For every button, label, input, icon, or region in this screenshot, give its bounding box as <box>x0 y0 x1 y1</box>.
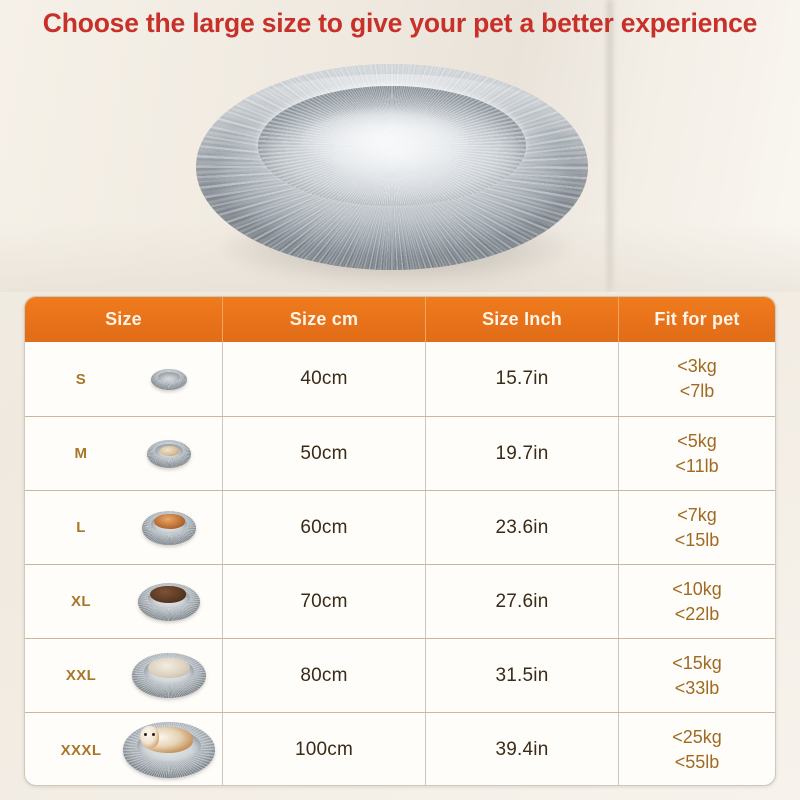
table-row: S 40cm 15.7in <3kg <7lb <box>25 342 775 416</box>
table-header-row: Size Size cm Size Inch Fit for pet <box>25 297 775 342</box>
row-fit-cell: <25kg <55lb <box>619 713 775 786</box>
fit-kg-value: <15kg <box>672 654 722 673</box>
bed-thumbnail <box>111 641 227 711</box>
bed-thumbnail <box>111 567 227 637</box>
fit-kg-value: <3kg <box>677 357 717 376</box>
row-size-inch-cell: 31.5in <box>426 639 619 712</box>
size-chart-table: Size Size cm Size Inch Fit for pet S 40c… <box>24 296 776 786</box>
row-size-cell: S <box>25 342 223 416</box>
row-size-cell: L <box>25 491 223 564</box>
row-size-cm-cell: 70cm <box>223 565 426 638</box>
row-size-inch-cell: 15.7in <box>426 342 619 416</box>
size-label: XXXL <box>55 742 107 759</box>
size-cm-value: 100cm <box>295 739 353 761</box>
bed-thumbnail <box>111 344 227 414</box>
fit-lb-value: <55lb <box>675 753 720 772</box>
size-label: XXL <box>55 667 107 684</box>
size-cm-value: 40cm <box>300 368 347 390</box>
column-header-size: Size <box>25 297 223 342</box>
row-fit-cell: <15kg <33lb <box>619 639 775 712</box>
row-size-cell: XL <box>25 565 223 638</box>
bed-thumbnail <box>111 715 227 785</box>
table-row: XXXL 100cm 39.4in <25kg <55 <box>25 712 775 786</box>
size-label: S <box>55 371 107 388</box>
fit-kg-value: <5kg <box>677 432 717 451</box>
size-inch-value: 15.7in <box>496 368 549 390</box>
row-fit-cell: <5kg <11lb <box>619 417 775 490</box>
size-inch-value: 19.7in <box>496 443 549 465</box>
row-fit-cell: <7kg <15lb <box>619 491 775 564</box>
page-title: Choose the large size to give your pet a… <box>0 8 800 39</box>
fit-kg-value: <10kg <box>672 580 722 599</box>
row-size-inch-cell: 19.7in <box>426 417 619 490</box>
row-size-inch-cell: 23.6in <box>426 491 619 564</box>
column-header-fit-for-pet: Fit for pet <box>619 297 775 342</box>
row-size-inch-cell: 27.6in <box>426 565 619 638</box>
bed-thumbnail <box>111 419 227 489</box>
column-header-size-cm: Size cm <box>223 297 426 342</box>
fit-lb-value: <11lb <box>675 457 718 476</box>
fit-kg-value: <25kg <box>672 728 722 747</box>
size-inch-value: 23.6in <box>496 517 549 539</box>
fit-lb-value: <15lb <box>675 531 720 550</box>
row-size-cm-cell: 100cm <box>223 713 426 786</box>
row-size-cm-cell: 50cm <box>223 417 426 490</box>
fit-lb-value: <22lb <box>675 605 720 624</box>
row-size-cell: XXL <box>25 639 223 712</box>
row-size-cell: M <box>25 417 223 490</box>
size-inch-value: 39.4in <box>496 739 549 761</box>
table-row: XXL 80cm 31.5in <15kg <33lb <box>25 638 775 712</box>
row-fit-cell: <3kg <7lb <box>619 342 775 416</box>
table-row: M 50cm 19.7in <5kg <11lb <box>25 416 775 490</box>
table-row: XL 70cm 27.6in <10kg <22lb <box>25 564 775 638</box>
bed-thumbnail <box>111 493 227 563</box>
row-size-inch-cell: 39.4in <box>426 713 619 786</box>
row-size-cm-cell: 80cm <box>223 639 426 712</box>
hero-bed-inner-highlight <box>300 110 470 172</box>
size-label: XL <box>55 593 107 610</box>
size-cm-value: 70cm <box>300 591 347 613</box>
row-fit-cell: <10kg <22lb <box>619 565 775 638</box>
hero-pet-bed-image <box>196 62 588 282</box>
size-label: M <box>55 445 107 462</box>
size-cm-value: 80cm <box>300 665 347 687</box>
table-row: L 60cm 23.6in <7kg <15lb <box>25 490 775 564</box>
size-cm-value: 60cm <box>300 517 347 539</box>
fit-lb-value: <33lb <box>675 679 720 698</box>
row-size-cell: XXXL <box>25 713 223 786</box>
fit-kg-value: <7kg <box>677 506 717 525</box>
row-size-cm-cell: 60cm <box>223 491 426 564</box>
table-body: S 40cm 15.7in <3kg <7lb M <box>25 342 775 786</box>
row-size-cm-cell: 40cm <box>223 342 426 416</box>
size-inch-value: 27.6in <box>496 591 549 613</box>
size-label: L <box>55 519 107 536</box>
fit-lb-value: <7lb <box>680 382 715 401</box>
size-cm-value: 50cm <box>300 443 347 465</box>
size-inch-value: 31.5in <box>496 665 549 687</box>
column-header-size-inch: Size Inch <box>426 297 619 342</box>
